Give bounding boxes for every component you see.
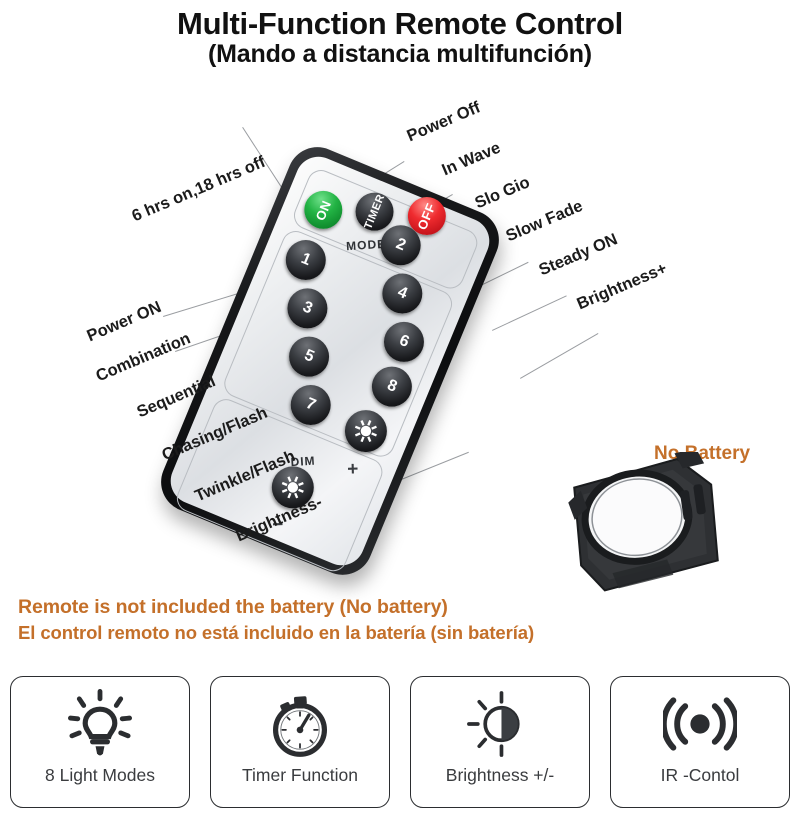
battery-holder bbox=[566, 452, 726, 597]
page-subtitle: (Mando a distancia multifunción) bbox=[0, 40, 800, 69]
callout-power-off: Power Off bbox=[404, 98, 483, 146]
remote-body: ON TIMER OFF MODE 1 3 bbox=[152, 138, 508, 584]
feature-card-brightness[interactable]: Brightness +/- bbox=[410, 676, 590, 808]
feature-label: Timer Function bbox=[242, 765, 358, 786]
feature-list: 8 Light Modes bbox=[10, 676, 790, 810]
lightbulb-icon bbox=[63, 683, 137, 765]
feature-label: Brightness +/- bbox=[446, 765, 554, 786]
callout-power-on: Power ON bbox=[84, 298, 164, 346]
warning-text-en: Remote is not included the battery (No b… bbox=[18, 596, 448, 619]
warning-text-es: El control remoto no está incluido en la… bbox=[18, 622, 534, 644]
battery-holder-graphic bbox=[566, 452, 726, 597]
sun-icon bbox=[349, 414, 383, 448]
feature-card-light-modes[interactable]: 8 Light Modes bbox=[10, 676, 190, 808]
plus-sign: + bbox=[347, 460, 359, 479]
feature-card-timer[interactable]: Timer Function bbox=[210, 676, 390, 808]
feature-label: IR -Contol bbox=[661, 765, 740, 786]
ir-waves-icon bbox=[663, 683, 737, 765]
stopwatch-icon bbox=[263, 683, 337, 765]
brightness-icon bbox=[463, 683, 537, 765]
remote-faceplate: ON TIMER OFF MODE 1 3 bbox=[164, 150, 497, 573]
feature-card-ir-control[interactable]: IR -Contol bbox=[610, 676, 790, 808]
feature-label: 8 Light Modes bbox=[45, 765, 155, 786]
infographic-canvas: Multi-Function Remote Control (Mando a d… bbox=[0, 0, 800, 819]
callout-brightness-up: Brightness+ bbox=[574, 259, 670, 314]
page-title: Multi-Function Remote Control bbox=[0, 6, 800, 42]
